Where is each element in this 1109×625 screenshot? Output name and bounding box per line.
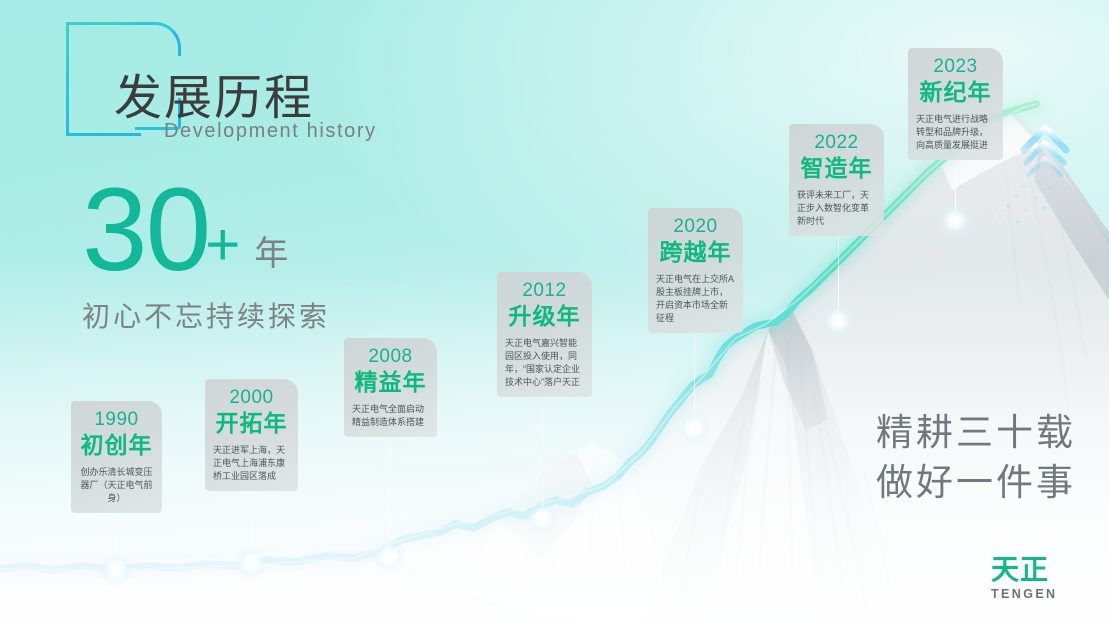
milestone-description: 天正进军上海，天正电气上海浦东康桥工业园区落成 [213,444,290,482]
bracket-frame-top-icon [135,22,181,56]
milestone-description: 天正电气全面启动精益制造体系搭建 [352,403,429,429]
years-stat-block: 30 + 年 初心不忘持续探索 [82,176,422,335]
milestone-name: 精益年 [352,369,429,397]
milestone-year: 2008 [352,347,429,368]
milestone-card[interactable]: 2023 新纪年 天正电气进行战略转型和品牌升级，向高质量发展挺进 [908,48,1003,160]
timeline-connector [542,404,543,518]
milestone-year: 2020 [656,217,735,238]
logo-chinese-text: 天正 [991,556,1083,584]
tengen-logo-icon: 天正 TENGEN [991,556,1083,601]
milestone-description: 天正电气在上交所A股主板挂牌上市，开启资本市场全新征程 [656,273,735,324]
milestone-card[interactable]: 2012 升级年 天正电气嘉兴智能园区投入使用，同年，“国家认定企业技术中心”落… [497,272,592,397]
milestone-year: 2000 [213,388,290,409]
milestone-year: 2022 [797,133,876,154]
logo-latin-text: TENGEN [991,588,1083,601]
years-plus-sign: + [205,215,240,285]
slogan-line-2: 做好一件事 [876,458,1076,508]
milestone-name: 智造年 [797,155,876,183]
years-stat-row: 30 + 年 [82,176,422,285]
milestone-year: 2023 [916,57,995,78]
milestone-card[interactable]: 2000 开拓年 天正进军上海，天正电气上海浦东康桥工业园区落成 [205,379,298,491]
milestone-description: 天正电气嘉兴智能园区投入使用，同年，“国家认定企业技术中心”落户天正 [505,337,584,388]
timeline-connector [116,508,117,570]
page-header: 发展历程 Development history [66,22,366,142]
milestone-name: 开拓年 [213,410,290,438]
slogan-line-1: 精耕三十载 [876,408,1076,458]
milestone-card[interactable]: 2008 精益年 天正电气全面启动精益制造体系搭建 [344,338,437,437]
timeline-connector [694,326,695,428]
page-subtitle: Development history [164,120,377,143]
years-number: 30 [82,176,209,285]
milestone-description: 创办乐清长城变压器厂（天正电气前身） [79,466,154,504]
milestone-name: 跨越年 [656,239,735,267]
years-subtitle: 初心不忘持续探索 [82,295,422,335]
timeline-connector [838,225,839,321]
milestone-description: 获评未来工厂，天正步入数智化变革新时代 [797,189,876,227]
milestone-name: 新纪年 [916,79,995,107]
timeline-connector [955,163,956,221]
timeline-connector [251,500,252,563]
years-unit: 年 [254,237,288,285]
milestone-year: 1990 [79,410,154,431]
slogan-block: 精耕三十载 做好一件事 [876,408,1076,509]
milestone-card[interactable]: 2022 智造年 获评未来工厂，天正步入数智化变革新时代 [789,124,884,236]
milestone-name: 初创年 [79,432,154,460]
development-history-slide: 发展历程 Development history 30 + 年 初心不忘持续探索… [0,0,1109,625]
milestone-card[interactable]: 1990 初创年 创办乐清长城变压器厂（天正电气前身） [71,401,162,513]
milestone-year: 2012 [505,281,584,302]
milestone-card[interactable]: 2020 跨越年 天正电气在上交所A股主板挂牌上市，开启资本市场全新征程 [648,208,743,333]
milestone-description: 天正电气进行战略转型和品牌升级，向高质量发展挺进 [916,113,995,151]
milestone-name: 升级年 [505,303,584,331]
page-title: 发展历程 [114,58,314,128]
timeline-connector [389,438,390,556]
